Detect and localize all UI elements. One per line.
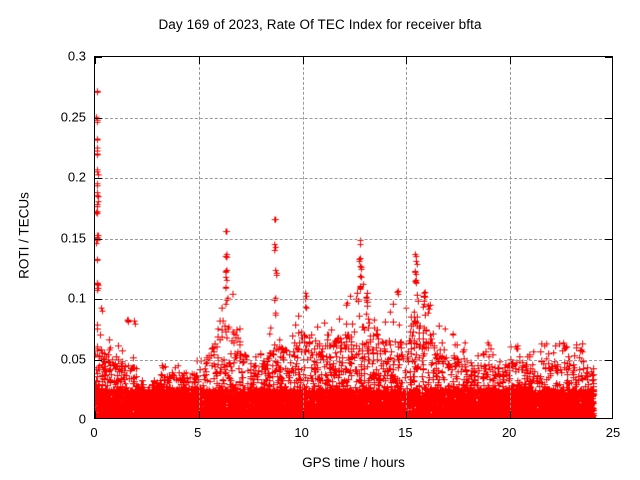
x-axis-tick xyxy=(95,411,96,418)
y-axis-tick-right xyxy=(605,239,612,240)
y-axis-tick xyxy=(95,360,102,361)
y-tick-label: 0.05 xyxy=(61,351,86,366)
y-axis-tick-right xyxy=(605,360,612,361)
x-tick-label: 25 xyxy=(606,425,620,440)
data-point-layer xyxy=(95,57,612,418)
y-axis-tick-right xyxy=(605,118,612,119)
y-axis-tick xyxy=(95,239,102,240)
gridline-horizontal xyxy=(95,118,612,119)
x-tick-label: 5 xyxy=(194,425,201,440)
y-tick-label: 0.3 xyxy=(68,49,86,64)
x-axis-title: GPS time / hours xyxy=(94,455,613,470)
gridline-vertical xyxy=(510,57,511,418)
y-axis-tick xyxy=(95,57,102,58)
y-axis-tick-right xyxy=(605,178,612,179)
gridline-horizontal xyxy=(95,178,612,179)
x-tick-label: 10 xyxy=(294,425,308,440)
y-axis-tick-labels: 00.050.10.150.20.250.3 xyxy=(0,56,86,419)
x-axis-tick-top xyxy=(510,57,511,64)
y-axis-tick xyxy=(95,178,102,179)
x-axis-tick-labels: 0510152025 xyxy=(94,425,613,445)
y-axis-tick-right xyxy=(605,299,612,300)
x-axis-tick xyxy=(199,411,200,418)
gridline-horizontal xyxy=(95,239,612,240)
x-tick-label: 15 xyxy=(398,425,412,440)
y-tick-label: 0.2 xyxy=(68,170,86,185)
x-axis-tick xyxy=(406,411,407,418)
y-axis-tick xyxy=(95,299,102,300)
chart-title: Day 169 of 2023, Rate Of TEC Index for r… xyxy=(0,17,640,32)
y-tick-label: 0 xyxy=(79,412,86,427)
y-tick-label: 0.25 xyxy=(61,109,86,124)
gridline-vertical xyxy=(406,57,407,418)
y-tick-label: 0.1 xyxy=(68,291,86,306)
x-tick-label: 0 xyxy=(90,425,97,440)
y-axis-tick xyxy=(95,118,102,119)
x-axis-tick-top xyxy=(95,57,96,64)
x-axis-tick xyxy=(510,411,511,418)
x-axis-tick xyxy=(303,411,304,418)
roti-scatter-figure: Day 169 of 2023, Rate Of TEC Index for r… xyxy=(0,0,640,480)
y-axis-tick-right xyxy=(605,57,612,58)
y-tick-label: 0.15 xyxy=(61,230,86,245)
gridline-vertical xyxy=(303,57,304,418)
x-tick-label: 20 xyxy=(502,425,516,440)
x-axis-tick-top xyxy=(303,57,304,64)
x-axis-tick-top xyxy=(199,57,200,64)
y-axis-title: ROTI / TECUs xyxy=(17,136,32,336)
gridline-horizontal xyxy=(95,299,612,300)
plot-area xyxy=(94,56,613,419)
gridline-vertical xyxy=(199,57,200,418)
x-axis-tick-top xyxy=(406,57,407,64)
gridline-horizontal xyxy=(95,360,612,361)
